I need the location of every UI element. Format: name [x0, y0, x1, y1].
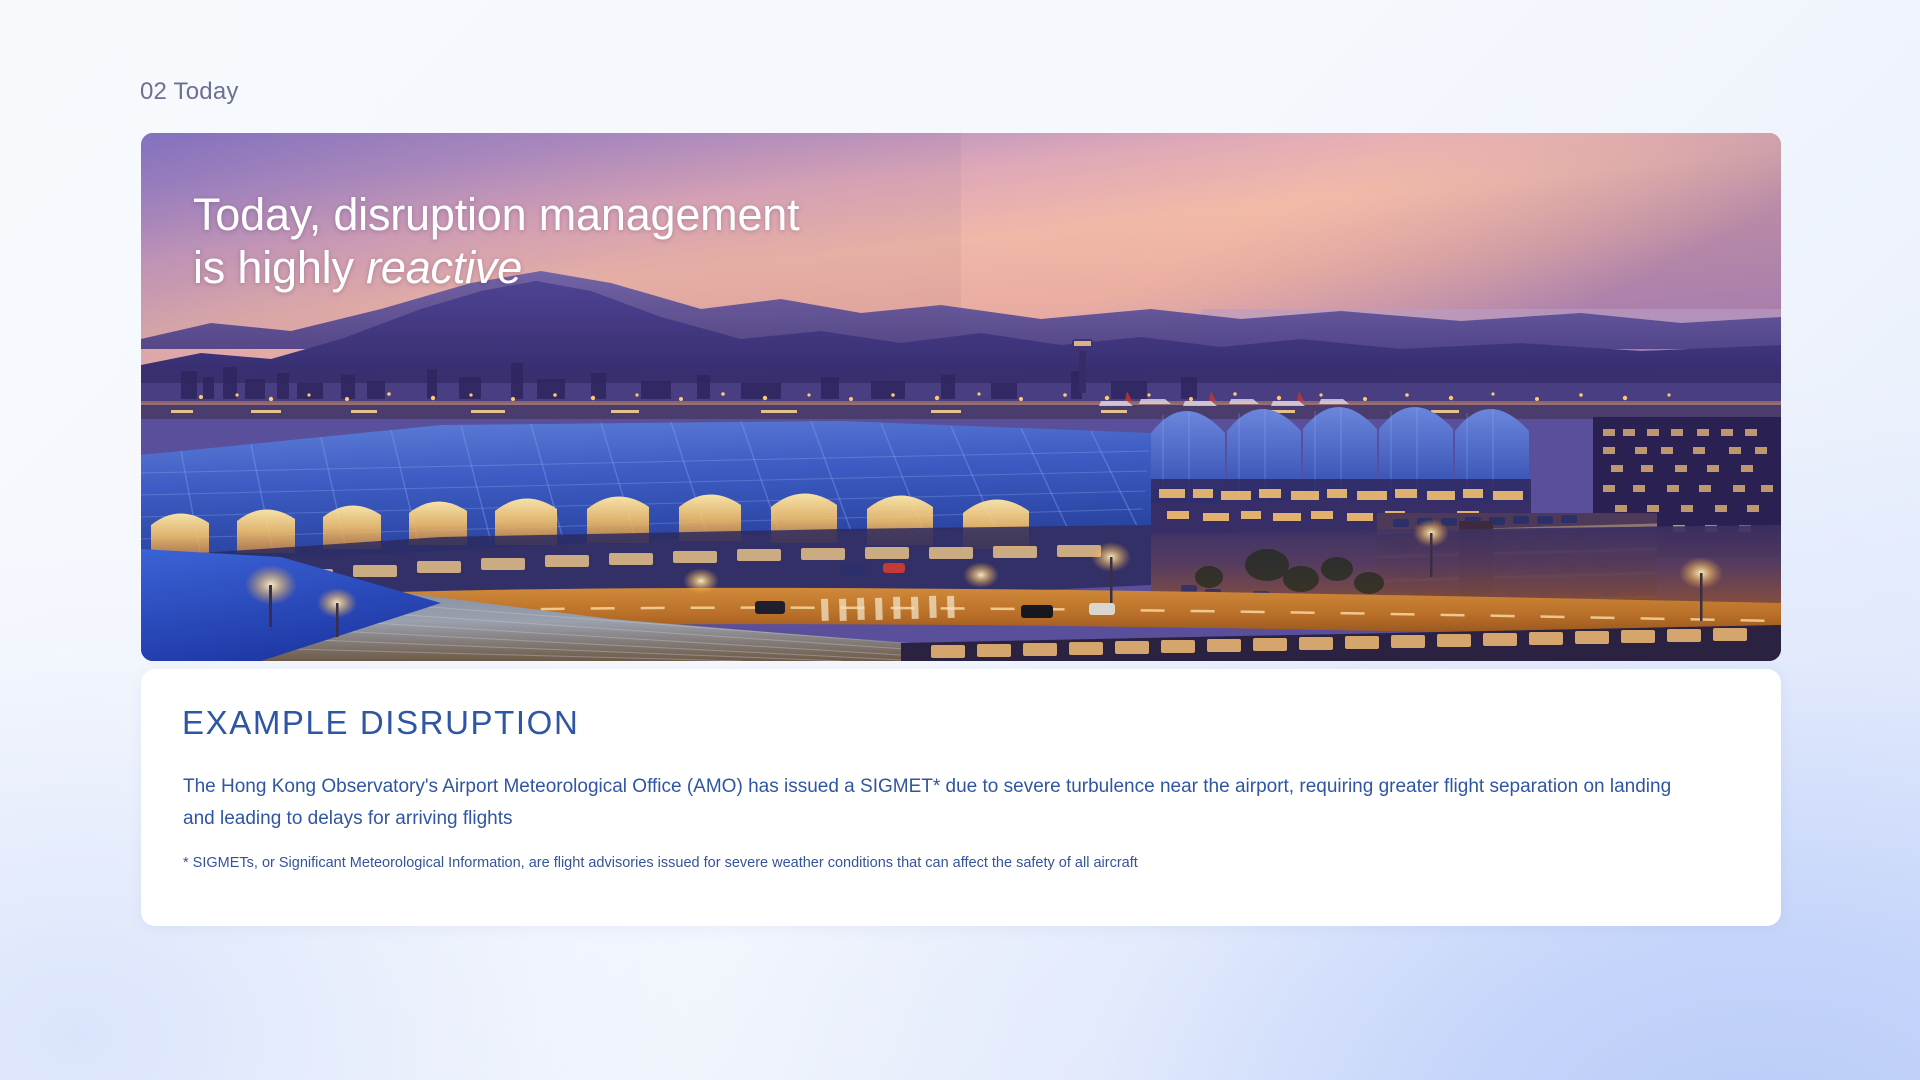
hero-headline: Today, disruption management is highly r…: [193, 188, 799, 294]
hero-headline-line1: Today, disruption management: [193, 189, 799, 240]
hero-banner: Today, disruption management is highly r…: [141, 133, 1781, 661]
example-disruption-card: EXAMPLE DISRUPTION The Hong Kong Observa…: [141, 669, 1781, 926]
hero-headline-emphasis: reactive: [366, 242, 522, 293]
slide-page: 02 Today: [0, 0, 1920, 1080]
section-number-label: 02 Today: [140, 78, 239, 106]
card-body-text: The Hong Kong Observatory's Airport Mete…: [183, 771, 1703, 835]
card-footnote-text: * SIGMETs, or Significant Meteorological…: [183, 852, 1703, 874]
card-heading: EXAMPLE DISRUPTION: [182, 704, 579, 742]
hero-headline-line2-prefix: is highly: [193, 242, 366, 293]
